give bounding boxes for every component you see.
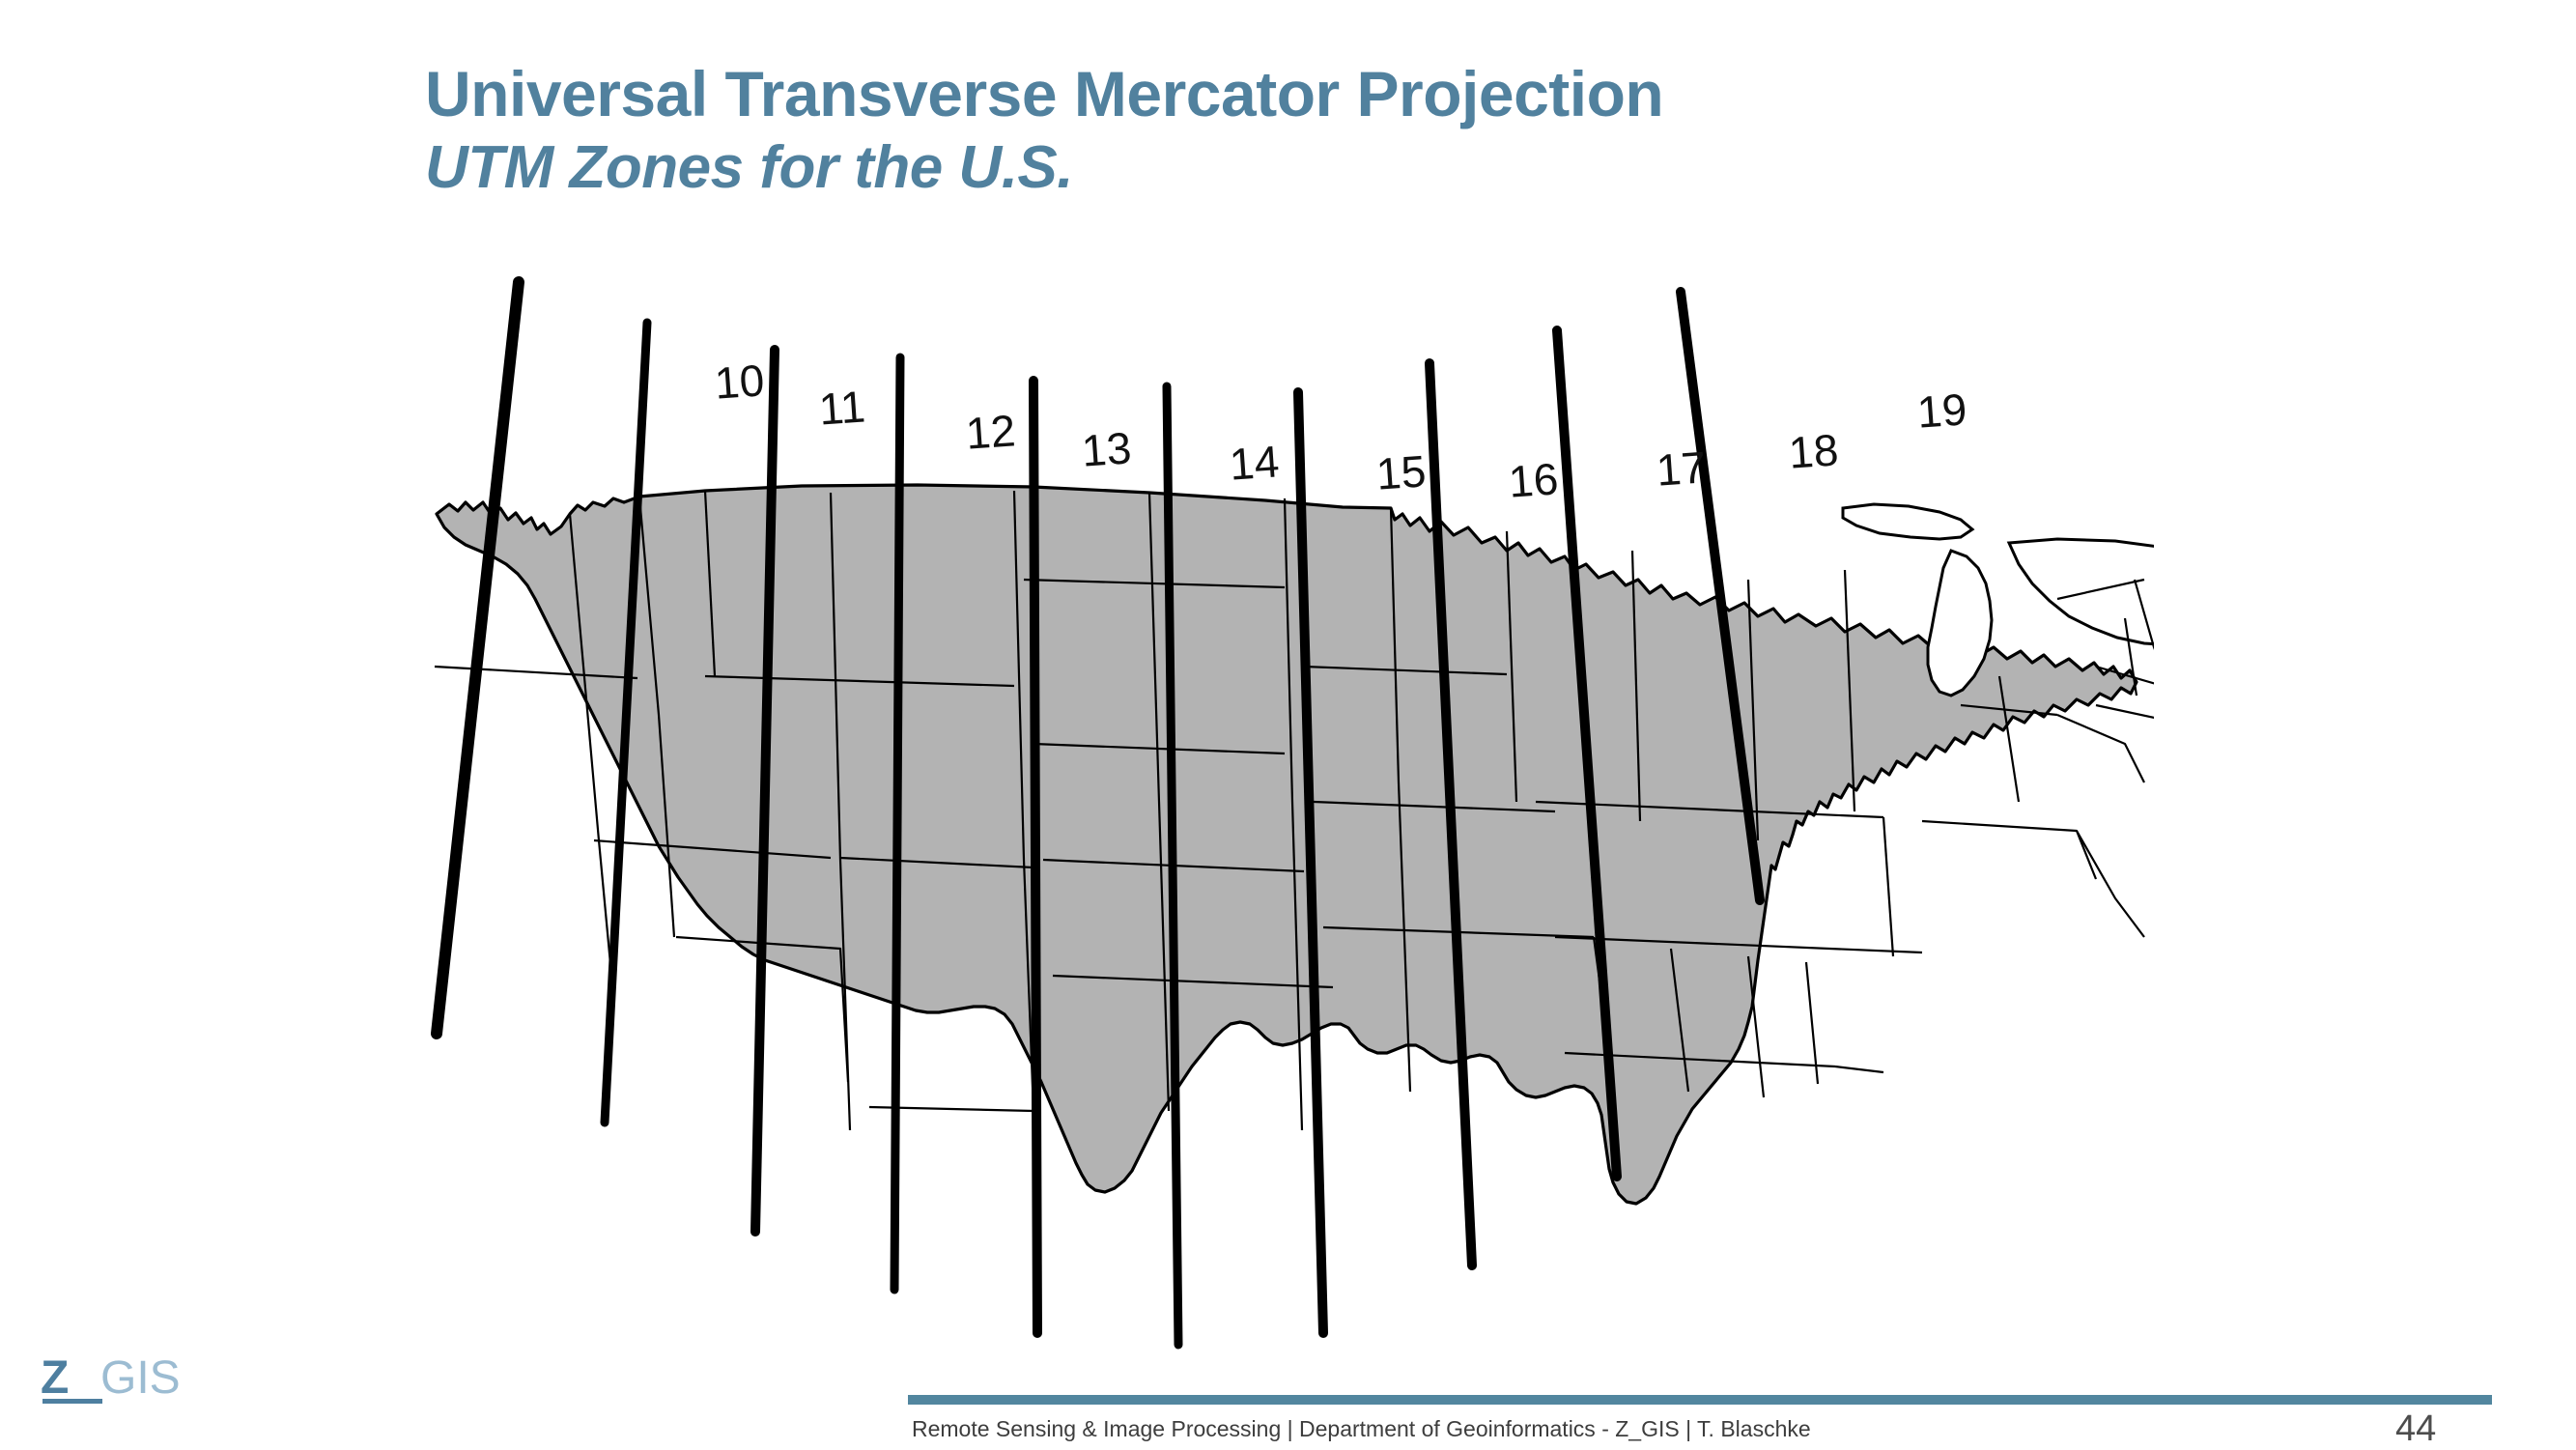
utm-zone-label-17: 17 [1655,441,1708,496]
footer-text: Remote Sensing & Image Processing | Depa… [912,1416,1811,1442]
lake-superior [1843,504,1972,539]
zone-line-14-15 [1033,381,1037,1333]
zgis-logo-svg: Z GIS [41,1350,243,1416]
zone-line-10-11 [437,282,519,1034]
utm-zone-label-11: 11 [817,380,866,435]
zone-line-13-14 [894,357,900,1290]
zgis-logo: Z GIS [41,1350,243,1416]
great-lakes-east [2009,539,2154,645]
slide-canvas: Universal Transverse Mercator Projection… [0,0,2576,1449]
page-number: 44 [2395,1408,2502,1450]
utm-zone-label-19: 19 [1915,383,1968,438]
logo-mark-z: Z [41,1352,69,1404]
utm-zone-label-12: 12 [964,404,1017,459]
logo-word-gis: GIS [100,1352,181,1404]
title-block: Universal Transverse Mercator Projection… [425,60,2260,202]
utm-zone-label-10: 10 [713,354,766,409]
logo-underscore [42,1399,102,1404]
land-layer [437,485,2154,1204]
utm-zone-label-16: 16 [1507,452,1560,507]
map-svg [415,261,2154,1352]
utm-zones-usa-map: 10111213141516171819 [415,261,2154,1352]
page-title: Universal Transverse Mercator Projection [425,60,2260,128]
utm-zone-label-18: 18 [1787,423,1840,478]
utm-zone-label-13: 13 [1080,421,1133,476]
footer-divider-bar [908,1395,2492,1405]
page-subtitle: UTM Zones for the U.S. [425,134,2260,201]
utm-zone-label-14: 14 [1228,435,1281,490]
utm-zone-label-15: 15 [1374,444,1428,499]
